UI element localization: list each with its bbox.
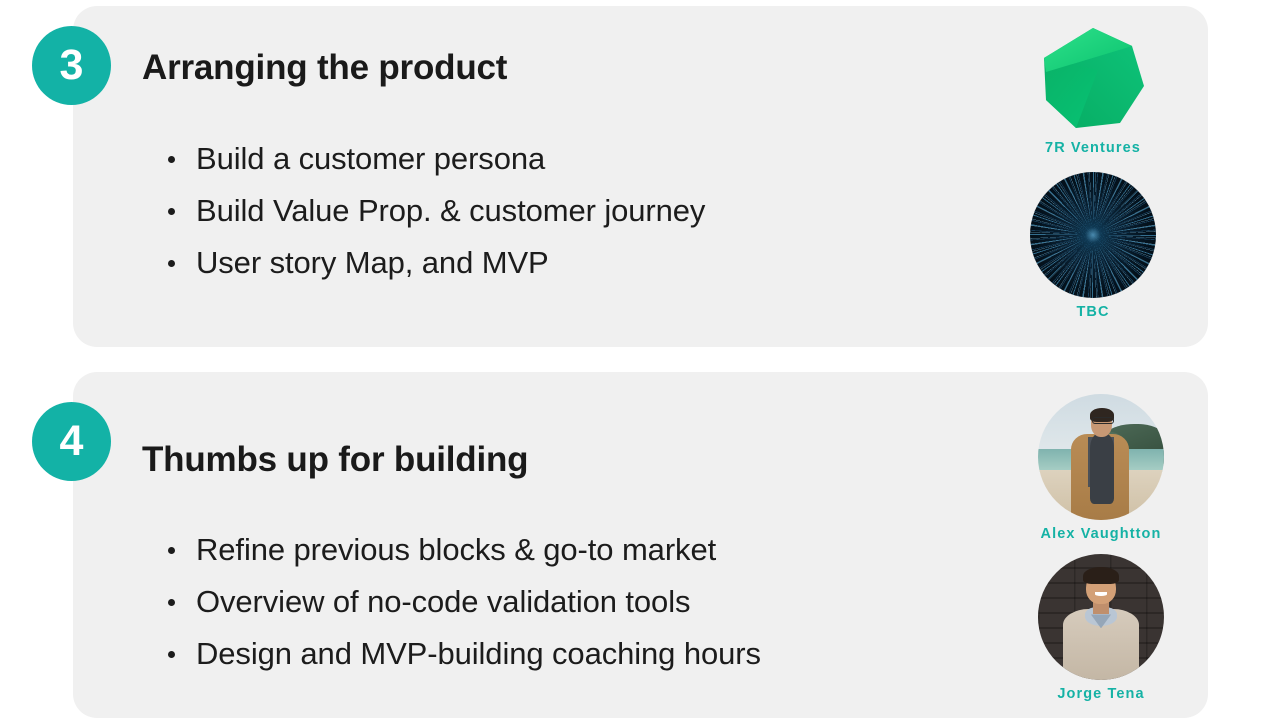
card-title-4: Thumbs up for building xyxy=(142,440,528,480)
media-label: TBC xyxy=(1018,304,1168,320)
avatar xyxy=(1038,394,1164,520)
list-item: Refine previous blocks & go-to market xyxy=(160,524,761,576)
list-item: Overview of no-code validation tools xyxy=(160,576,761,628)
media-tbc: TBC xyxy=(1018,172,1168,320)
avatar xyxy=(1038,554,1164,680)
heptagon-logo-icon xyxy=(1038,24,1148,134)
list-item: Build a customer persona xyxy=(160,133,705,185)
card-title-3: Arranging the product xyxy=(142,48,507,88)
media-label: Jorge Tena xyxy=(1026,686,1176,702)
media-label: 7R Ventures xyxy=(1018,140,1168,156)
media-jorge-tena: Jorge Tena xyxy=(1026,554,1176,702)
list-item: User story Map, and MVP xyxy=(160,237,705,289)
step-number-label: 3 xyxy=(60,44,84,87)
step-badge-4: 4 xyxy=(32,402,111,481)
bullet-list-3: Build a customer persona Build Value Pro… xyxy=(160,133,705,289)
bullet-list-4: Refine previous blocks & go-to market Ov… xyxy=(160,524,761,680)
media-7r-ventures: 7R Ventures xyxy=(1018,24,1168,156)
slide-canvas: 3 Arranging the product Build a customer… xyxy=(0,0,1280,720)
step-number-label: 4 xyxy=(60,420,84,463)
list-item: Build Value Prop. & customer journey xyxy=(160,185,705,237)
list-item: Design and MVP-building coaching hours xyxy=(160,628,761,680)
starfield-image xyxy=(1030,172,1156,298)
step-badge-3: 3 xyxy=(32,26,111,105)
media-label: Alex Vaughtton xyxy=(1026,526,1176,542)
media-alex-vaughtton: Alex Vaughtton xyxy=(1026,394,1176,542)
